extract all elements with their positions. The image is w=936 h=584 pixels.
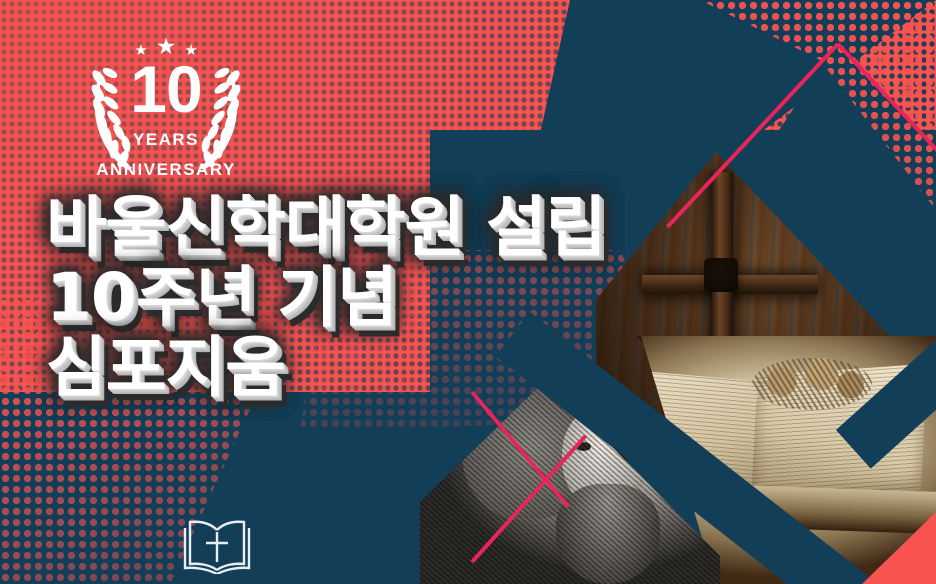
headline-block: 바울신학대학원 설립 10주년 기념 심포지움 — [46, 196, 806, 406]
headline-line-1: 바울신학대학원 설립 — [46, 196, 806, 260]
anniversary-badge: ★ ★ ★ — [88, 34, 244, 184]
badge-years-label: YEARS — [88, 130, 244, 150]
badge-number: 10 — [88, 56, 244, 122]
headline-line-2: 10주년 기념 — [46, 266, 806, 330]
headline-line-3: 심포지움 — [46, 336, 806, 400]
badge-anniversary-label: ANNIVERSARY — [88, 160, 244, 180]
anniversary-symposium-poster: ★ ★ ★ — [0, 0, 936, 584]
open-bible-cross-icon — [180, 518, 254, 574]
